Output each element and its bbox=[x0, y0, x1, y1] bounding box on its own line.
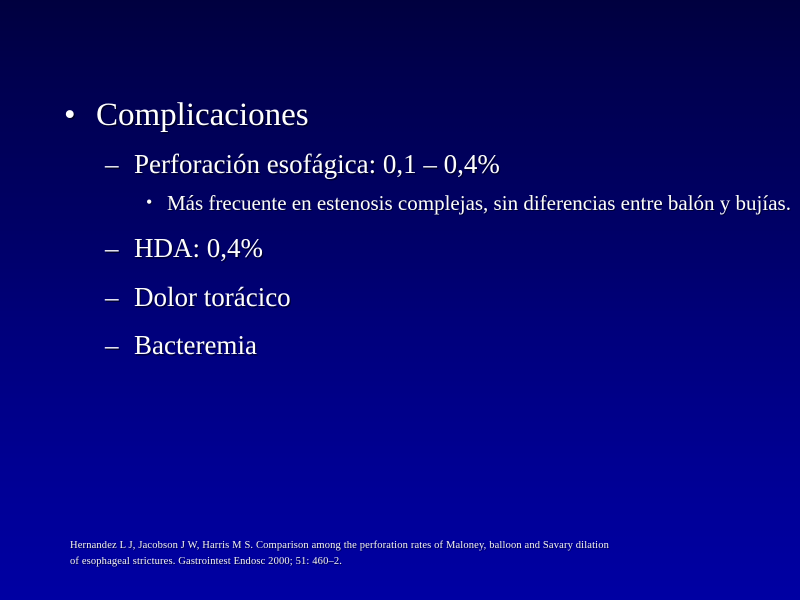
bullet-level2-dolor-toracico: – Dolor torácico bbox=[0, 281, 800, 313]
citation-footnote: Hernandez L J, Jacobson J W, Harris M S.… bbox=[70, 538, 770, 570]
bullet-level3-label: Más frecuente en estenosis complejas, si… bbox=[167, 191, 791, 215]
bullet-marker-level2-dash-icon: – bbox=[105, 329, 119, 361]
citation-line-1: Hernandez L J, Jacobson J W, Harris M S.… bbox=[70, 538, 770, 554]
bullet-marker-level2-dash-icon: – bbox=[105, 232, 119, 264]
bullet-level3-mas-frecuente: • Más frecuente en estenosis complejas, … bbox=[0, 190, 800, 216]
bullet-marker-level2-dash-icon: – bbox=[105, 148, 119, 180]
bullet-level1-label: Complicaciones bbox=[96, 97, 309, 133]
bullet-marker-level1-icon: • bbox=[64, 96, 84, 134]
bullet-level2-hda: – HDA: 0,4% bbox=[0, 232, 800, 264]
bullet-level2-perforacion-esofagica: – Perforación esofágica: 0,1 – 0,4% bbox=[0, 148, 800, 180]
presentation-slide: • Complicaciones – Perforación esofágica… bbox=[0, 0, 800, 600]
bullet-level2-label: Perforación esofágica: 0,1 – 0,4% bbox=[134, 149, 500, 179]
bullet-marker-level3-icon: • bbox=[146, 190, 152, 215]
bullet-level2-bacteremia: – Bacteremia bbox=[0, 329, 800, 361]
citation-line-2: of esophageal strictures. Gastrointest E… bbox=[70, 554, 770, 570]
bullet-level2-label: Dolor torácico bbox=[134, 282, 291, 312]
bullet-level2-label: Bacteremia bbox=[134, 330, 257, 360]
bullet-level1-complicaciones: • Complicaciones bbox=[0, 96, 800, 134]
bullet-level2-label: HDA: 0,4% bbox=[134, 233, 263, 263]
bullet-marker-level2-dash-icon: – bbox=[105, 281, 119, 313]
slide-content-body: • Complicaciones – Perforación esofágica… bbox=[0, 96, 800, 370]
